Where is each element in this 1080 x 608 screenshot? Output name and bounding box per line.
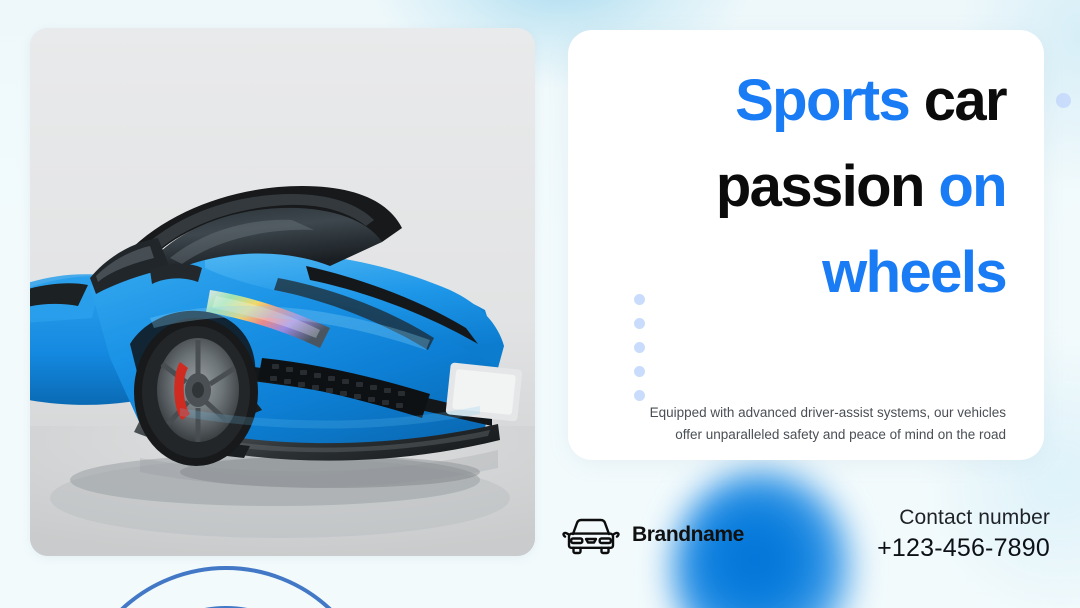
decorative-dot [634, 390, 645, 401]
page-title: Sports car passion on wheels [608, 58, 1006, 316]
decorative-dot [634, 366, 645, 377]
car-photo-illustration [30, 28, 535, 556]
headline-word-car: car [924, 68, 1006, 133]
headline-word-sports: Sports [735, 68, 909, 133]
decorative-dot [634, 342, 645, 353]
headline-word-wheels: wheels [822, 240, 1006, 305]
contact-number[interactable]: +123-456-7890 [877, 532, 1050, 564]
decorative-dot-column [634, 294, 645, 401]
brand-block[interactable]: Brandname [562, 512, 744, 558]
contact-block: Contact number +123-456-7890 [877, 504, 1050, 564]
contact-label: Contact number [877, 504, 1050, 532]
decorative-dot [634, 294, 645, 305]
headline-card: Sports car passion on wheels Equipped wi… [568, 30, 1044, 460]
decorative-dot [634, 318, 645, 329]
poster-canvas: Sports car passion on wheels Equipped wi… [0, 0, 1080, 608]
brand-name: Brandname [632, 523, 744, 547]
headline-word-passion: passion [716, 154, 924, 219]
car-photo [30, 28, 535, 556]
body-paragraph: Equipped with advanced driver-assist sys… [620, 402, 1006, 446]
decorative-dot-right [1056, 93, 1071, 108]
headline-word-on: on [938, 154, 1006, 219]
car-front-icon [562, 512, 620, 558]
